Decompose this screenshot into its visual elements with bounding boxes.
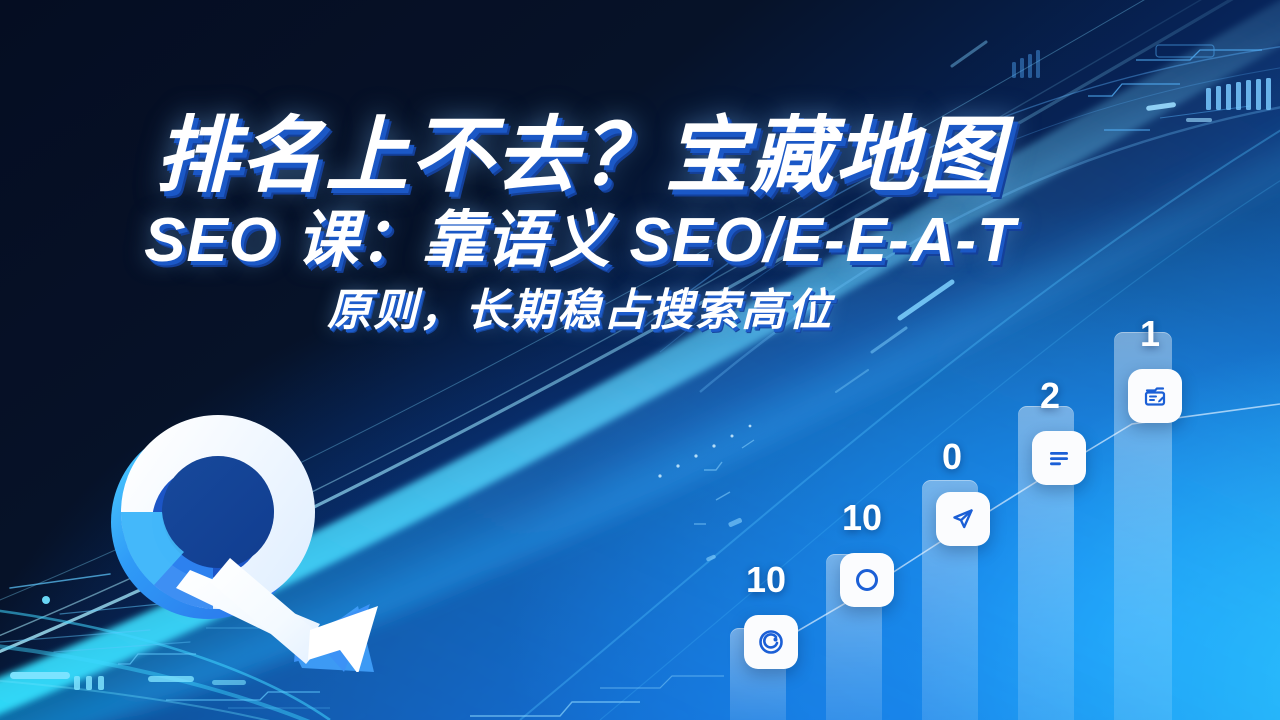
chart-bar-label: 10 (842, 500, 882, 536)
magnifying-glass-icon (58, 372, 398, 672)
chart-bar-label: 2 (1040, 378, 1060, 414)
chart-bar-label: 1 (1140, 316, 1160, 352)
ring-circle-icon (840, 553, 894, 607)
chart-trend-line (726, 300, 1280, 720)
paper-plane-icon (936, 492, 990, 546)
folder-edit-icon (1128, 369, 1182, 423)
chart-bar-label: 10 (746, 562, 786, 598)
document-lines-icon (1032, 431, 1086, 485)
ranking-bar-chart: 10 10 0 2 (726, 300, 1280, 720)
chart-bar-label: 0 (942, 439, 962, 475)
spiral-circle-icon (744, 615, 798, 669)
seo-course-poster: 排名上不去？宝藏地图 SEO 课：靠语义 SEO/E-E-A-T 原则，长期稳占… (0, 0, 1280, 720)
